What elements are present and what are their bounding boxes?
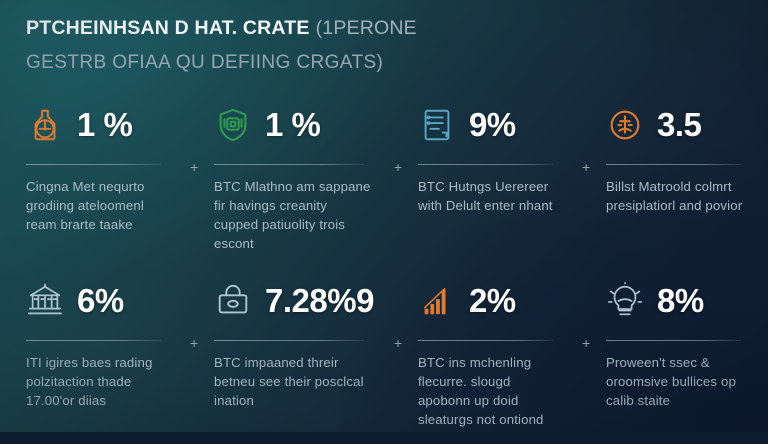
stat-description: Cingna Met nequrto grodiing ateloomenl r… [26,177,170,234]
stat-description: Billst Matroold colmrt presiplatiorl and… [606,177,750,215]
stat-value: 9% [469,108,516,142]
stat-value: 1 % [77,108,132,142]
stat-header: 1 % [26,100,170,150]
stat-card-8: + 8% Proween't ssec & oroomsive bullices… [580,268,768,444]
divider [606,340,741,341]
stat-card-7: + 2% BTC ins mchenling flecurre. slougd … [392,268,580,444]
page-subtitle: GESTRB OFIAA QU DEFIING CRGATS) [26,51,742,74]
stat-header: 8% [606,276,750,326]
divider [214,164,364,165]
stat-header: 9% [418,100,562,150]
separator-plus: + [582,160,590,174]
flask-icon [26,106,64,144]
separator-plus: + [394,336,402,350]
separator-plus: + [190,160,198,174]
page-title-paren: (1PERONE [316,17,417,39]
stat-description: BTC Mlathno am sappane fir havings crean… [214,177,374,253]
divider [214,340,364,341]
separator-plus: + [394,160,402,174]
stat-value: 8% [657,284,704,318]
stat-card-2: + 1 % BTC Mlathno am sappane fir havings… [188,92,392,268]
shield-icon [214,106,252,144]
stat-value: 7.28%9 [265,284,374,318]
stat-card-4: + 3.5 Billst Matroold colmrt presiplatio… [580,92,768,268]
stat-header: 3.5 [606,100,750,150]
separator-plus: + [190,336,198,350]
stat-header: 7.28%9 [214,276,374,326]
lightbulb-icon [606,282,644,320]
stat-header: 2% [418,276,562,326]
divider [26,164,161,165]
divider [418,164,553,165]
page-title-main: PTCHEINHSAN D HAT. CRATE [26,17,310,39]
stat-description: BTC ins mchenling flecurre. slougd apobo… [418,353,562,429]
stat-value: 6% [77,284,124,318]
stat-card-1: + 1 % Cingna Met nequrto grodiing ateloo… [0,92,188,268]
coin-icon [606,106,644,144]
bank-building-icon [26,282,64,320]
stat-card-5: + 6% ITI igires baes rading polzitaction… [0,268,188,444]
stat-card-3: + 9% BTC Hutngs Uerereer with Delult ent… [392,92,580,268]
stat-description: BTC Hutngs Uerereer with Delult enter nh… [418,177,562,215]
stat-card-6: + 7.28%9 BTC impaaned threir betneu see … [188,268,392,444]
document-list-icon [418,106,456,144]
stat-value: 3.5 [657,108,701,142]
stat-header: 6% [26,276,170,326]
stat-description: Proween't ssec & oroomsive bullices op c… [606,353,750,410]
stat-description: BTC impaaned threir betneu see their pos… [214,353,374,410]
divider [26,340,161,341]
bar-chart-icon [418,282,456,320]
stat-description: ITI igires baes rading polzitaction thad… [26,353,170,410]
stats-grid: + 1 % Cingna Met nequrto grodiing ateloo… [0,92,768,444]
divider [606,164,741,165]
separator-plus: + [582,336,590,350]
stat-header: 1 % [214,100,374,150]
stat-value: 1 % [265,108,320,142]
divider [418,340,553,341]
briefcase-icon [214,282,252,320]
header: PTCHEINHSAN D HAT. CRATE(1PERONE GESTRB … [26,16,742,74]
page-title: PTCHEINHSAN D HAT. CRATE(1PERONE [26,16,742,40]
stat-value: 2% [469,284,516,318]
infographic-poster: PTCHEINHSAN D HAT. CRATE(1PERONE GESTRB … [0,0,768,432]
